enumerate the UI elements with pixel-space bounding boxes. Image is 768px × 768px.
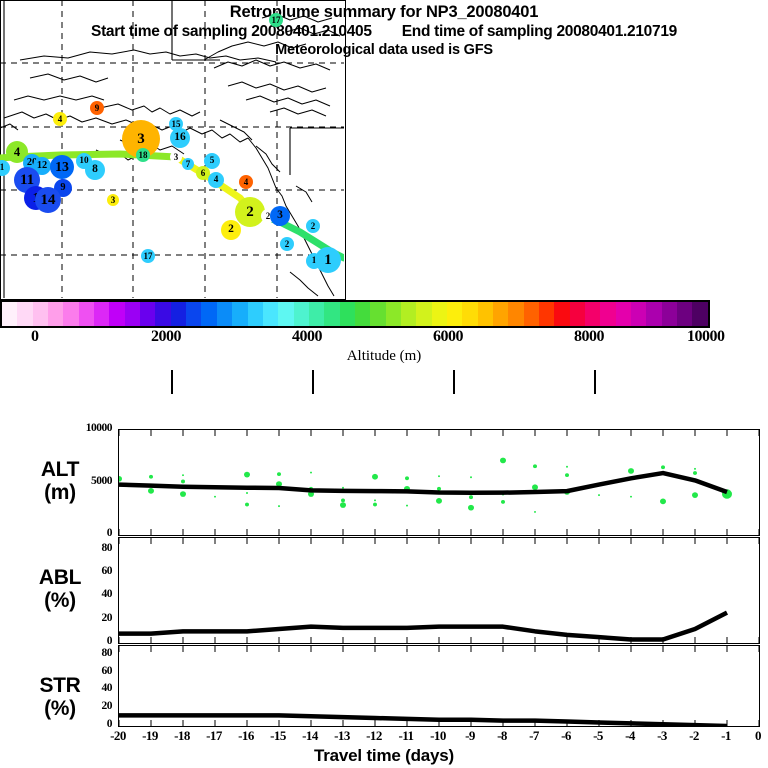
retroplume-map[interactable]: 1794153164183120121310875116944114322322… bbox=[0, 0, 346, 300]
colorbar-title: Altitude (m) bbox=[0, 348, 768, 365]
xtick--5: -5 bbox=[593, 728, 603, 744]
alt-scatter-dot bbox=[660, 499, 666, 505]
alt-scatter-dot bbox=[406, 505, 408, 507]
alt-scatter-dot bbox=[181, 480, 185, 484]
xtick--12: -12 bbox=[366, 728, 382, 744]
colorbar-tick-0: 0 bbox=[31, 328, 39, 346]
str-plot bbox=[119, 646, 759, 726]
abl-ytick-60: 60 bbox=[44, 565, 112, 577]
colorbar-segment-1 bbox=[17, 302, 32, 326]
alt-scatter-dot bbox=[598, 494, 600, 496]
alt-ytick-5000: 5000 bbox=[44, 475, 112, 487]
colorbar-segment-10 bbox=[155, 302, 170, 326]
str-ytick-20: 20 bbox=[44, 700, 112, 712]
xtick--19: -19 bbox=[142, 728, 158, 744]
map-marker-13-12[interactable]: 13 bbox=[50, 155, 74, 179]
xtick--10: -10 bbox=[430, 728, 446, 744]
xtick--7: -7 bbox=[529, 728, 539, 744]
colorbar-segment-9 bbox=[140, 302, 155, 326]
map-marker-17-31[interactable]: 17 bbox=[141, 249, 155, 263]
colorbar-divider bbox=[594, 370, 596, 394]
colorbar-divider bbox=[171, 370, 173, 394]
colorbar-segment-44 bbox=[677, 302, 692, 326]
colorbar-segment-41 bbox=[631, 302, 646, 326]
alt-scatter-dot bbox=[468, 505, 474, 511]
map-graphics bbox=[0, 0, 344, 298]
alt-scatter-dot bbox=[628, 468, 634, 474]
colorbar-segment-0 bbox=[2, 302, 17, 326]
colorbar-tick-labels: 0200040006000800010000 bbox=[0, 328, 768, 348]
alt-scatter-dot bbox=[565, 473, 569, 477]
alt-scatter-dot bbox=[372, 474, 378, 480]
colorbar-segment-29 bbox=[447, 302, 462, 326]
colorbar-segment-45 bbox=[692, 302, 707, 326]
alt-scatter-dot bbox=[501, 500, 505, 504]
alt-scatter-dot bbox=[342, 487, 344, 489]
colorbar-divider bbox=[453, 370, 455, 394]
xtick-0: 0 bbox=[755, 728, 761, 744]
alt-scatter-dot bbox=[438, 475, 440, 477]
map-marker-2-28[interactable]: 2 bbox=[221, 220, 241, 240]
map-marker-17-0[interactable]: 17 bbox=[269, 13, 283, 27]
str-ytick-60: 60 bbox=[44, 665, 112, 677]
colorbar-segment-27 bbox=[416, 302, 431, 326]
map-marker-3-27[interactable]: 3 bbox=[270, 206, 290, 226]
alt-scatter-dot bbox=[470, 476, 472, 478]
str-ytick-80: 80 bbox=[44, 647, 112, 659]
alt-scatter-dot bbox=[119, 476, 122, 482]
colorbar-tick-2000: 2000 bbox=[151, 328, 181, 346]
map-marker-4-21[interactable]: 4 bbox=[239, 175, 253, 189]
colorbar-segment-42 bbox=[646, 302, 661, 326]
xtick--17: -17 bbox=[206, 728, 222, 744]
alt-plot bbox=[119, 430, 759, 535]
colorbar-tick-10000: 10000 bbox=[687, 328, 725, 346]
colorbar-segment-13 bbox=[201, 302, 216, 326]
map-marker-1-33[interactable]: 1 bbox=[315, 247, 341, 273]
colorbar-segment-19 bbox=[294, 302, 309, 326]
xtick--11: -11 bbox=[398, 728, 413, 744]
colorbar-segment-38 bbox=[585, 302, 600, 326]
colorbar-segment-3 bbox=[48, 302, 63, 326]
colorbar-segment-33 bbox=[508, 302, 523, 326]
colorbar-segment-25 bbox=[386, 302, 401, 326]
alt-scatter-dot bbox=[693, 471, 697, 475]
xtick--9: -9 bbox=[465, 728, 475, 744]
alt-scatter-dot bbox=[532, 484, 538, 490]
abl-plot bbox=[119, 538, 759, 643]
x-axis-title: Travel time (days) bbox=[0, 746, 768, 766]
alt-scatter-dot bbox=[180, 491, 186, 497]
colorbar-segment-4 bbox=[63, 302, 78, 326]
map-marker-2-29[interactable]: 2 bbox=[306, 219, 320, 233]
alt-scatter-dot bbox=[244, 472, 250, 478]
colorbar-segment-23 bbox=[355, 302, 370, 326]
altitude-colorbar[interactable] bbox=[0, 300, 710, 328]
colorbar-segment-30 bbox=[462, 302, 477, 326]
alt-scatter-dot bbox=[340, 502, 346, 508]
colorbar-segment-40 bbox=[616, 302, 631, 326]
alt-scatter-dot bbox=[214, 496, 216, 498]
colorbar-segment-15 bbox=[232, 302, 247, 326]
colorbar-tick-8000: 8000 bbox=[574, 328, 604, 346]
abl-ytick-0: 0 bbox=[44, 635, 112, 647]
colorbar-segment-32 bbox=[493, 302, 508, 326]
xtick--4: -4 bbox=[625, 728, 635, 744]
colorbar-segment-26 bbox=[401, 302, 416, 326]
colorbar-segment-14 bbox=[217, 302, 232, 326]
abl-line bbox=[119, 613, 727, 640]
alt-scatter-dot bbox=[341, 498, 345, 502]
xtick--1: -1 bbox=[721, 728, 731, 744]
end-time-label: End time of sampling 20080401.210719 bbox=[402, 23, 677, 40]
alt-scatter-dot bbox=[405, 476, 409, 480]
colorbar-segment-8 bbox=[125, 302, 140, 326]
alt-scatter-dot bbox=[661, 465, 665, 469]
colorbar-segment-20 bbox=[309, 302, 324, 326]
alt-scatter-dot bbox=[246, 492, 248, 494]
xtick--8: -8 bbox=[497, 728, 507, 744]
colorbar-segment-31 bbox=[478, 302, 493, 326]
colorbar-segment-35 bbox=[539, 302, 554, 326]
colorbar-tick-4000: 4000 bbox=[292, 328, 322, 346]
str-ytick-40: 40 bbox=[44, 682, 112, 694]
alt-scatter-dot bbox=[469, 495, 473, 499]
colorbar-segment-39 bbox=[600, 302, 615, 326]
map-marker-3-24[interactable]: 3 bbox=[107, 194, 119, 206]
map-marker-18-7[interactable]: 18 bbox=[136, 148, 150, 162]
colorbar-segment-5 bbox=[79, 302, 94, 326]
alt-scatter-dot bbox=[310, 472, 312, 474]
colorbar-segment-2 bbox=[33, 302, 48, 326]
xtick--15: -15 bbox=[270, 728, 286, 744]
alt-scatter-dot bbox=[436, 498, 442, 504]
alt-scatter-dot bbox=[500, 458, 506, 464]
xtick--16: -16 bbox=[238, 728, 254, 744]
colorbar-segment-16 bbox=[248, 302, 263, 326]
colorbar-segment-34 bbox=[524, 302, 539, 326]
str-panel[interactable] bbox=[118, 645, 760, 727]
alt-scatter-dot bbox=[437, 487, 441, 491]
alt-scatter-dot bbox=[692, 492, 698, 498]
alt-scatter-dot bbox=[374, 499, 376, 501]
str-line bbox=[119, 715, 727, 726]
colorbar-segment-17 bbox=[263, 302, 278, 326]
alt-scatter-dot bbox=[534, 511, 536, 513]
colorbar-tick-6000: 6000 bbox=[433, 328, 463, 346]
alt-mean-line bbox=[119, 473, 727, 493]
map-marker-7-15[interactable]: 7 bbox=[182, 158, 194, 170]
colorbar-divider bbox=[312, 370, 314, 394]
abl-panel[interactable] bbox=[118, 537, 760, 644]
x-axis-tick-labels: -20-19-18-17-16-15-14-13-12-11-10-9-8-7-… bbox=[0, 728, 768, 746]
alt-scatter-dot bbox=[148, 488, 154, 494]
colorbar-segment-43 bbox=[662, 302, 677, 326]
map-marker-14-23[interactable]: 14 bbox=[35, 187, 61, 213]
alt-scatter-dot bbox=[149, 475, 153, 479]
xtick--18: -18 bbox=[174, 728, 190, 744]
abl-ytick-40: 40 bbox=[44, 588, 112, 600]
colorbar-segment-6 bbox=[94, 302, 109, 326]
colorbar-segment-18 bbox=[278, 302, 293, 326]
alt-ytick-10000: 10000 bbox=[44, 422, 112, 434]
political-boundaries bbox=[4, 0, 344, 298]
str-row-label: STR (%) bbox=[8, 674, 112, 720]
xtick--6: -6 bbox=[561, 728, 571, 744]
map-marker-4-20[interactable]: 4 bbox=[208, 172, 224, 188]
alt-scatter-dot bbox=[566, 466, 568, 468]
alt-scatter-dot bbox=[278, 505, 280, 507]
colorbar-segment-7 bbox=[109, 302, 124, 326]
alt-scatter-dot bbox=[277, 472, 281, 476]
colorbar-segment-37 bbox=[570, 302, 585, 326]
xtick--2: -2 bbox=[689, 728, 699, 744]
xtick--20: -20 bbox=[110, 728, 126, 744]
map-marker-16-5[interactable]: 16 bbox=[170, 128, 190, 148]
colorbar-segment-21 bbox=[324, 302, 339, 326]
map-marker-3-8[interactable]: 3 bbox=[170, 151, 182, 163]
colorbar-segment-11 bbox=[171, 302, 186, 326]
alt-scatter-dot bbox=[182, 474, 184, 476]
colorbar-segment-24 bbox=[370, 302, 385, 326]
colorbar-segment-22 bbox=[340, 302, 355, 326]
alt-scatter-dot bbox=[245, 503, 249, 507]
map-marker-2-25[interactable]: 2 bbox=[235, 197, 265, 227]
colorbar-segment-36 bbox=[554, 302, 569, 326]
alt-ytick-0: 0 bbox=[44, 527, 112, 539]
alt-scatter-dot bbox=[373, 503, 377, 507]
alt-scatter-dot bbox=[630, 496, 632, 498]
abl-ytick-80: 80 bbox=[44, 542, 112, 554]
colorbar-segment-12 bbox=[186, 302, 201, 326]
map-marker-2-30[interactable]: 2 bbox=[280, 237, 294, 251]
xtick--13: -13 bbox=[334, 728, 350, 744]
map-marker-8-14[interactable]: 8 bbox=[85, 160, 105, 180]
alt-scatter-dot bbox=[694, 468, 696, 470]
map-marker-4-2[interactable]: 4 bbox=[53, 112, 67, 126]
xtick--14: -14 bbox=[302, 728, 318, 744]
colorbar-segment-28 bbox=[432, 302, 447, 326]
abl-ytick-20: 20 bbox=[44, 612, 112, 624]
map-marker-9-1[interactable]: 9 bbox=[90, 101, 104, 115]
alt-panel[interactable] bbox=[118, 429, 760, 536]
xtick--3: -3 bbox=[657, 728, 667, 744]
alt-scatter-dot bbox=[533, 464, 537, 468]
